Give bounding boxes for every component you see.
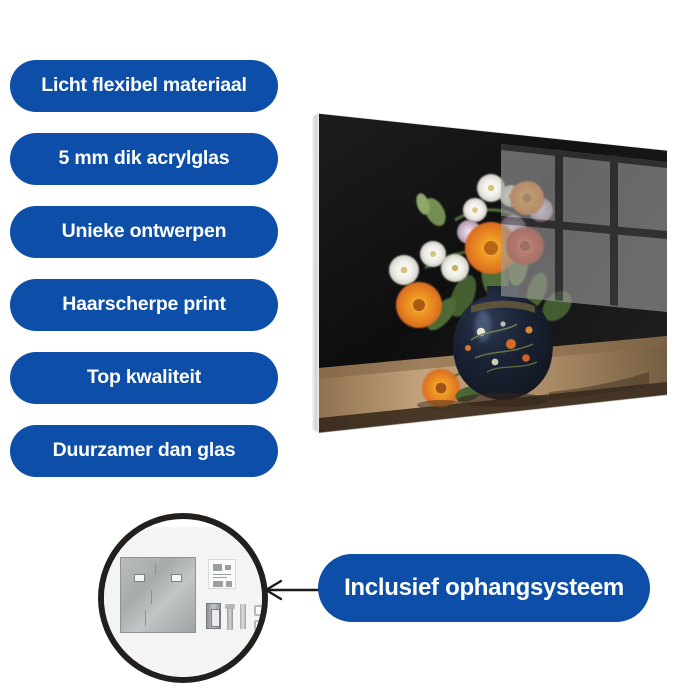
mounting-plate (120, 557, 196, 633)
feature-pill-top-kwaliteit: Top kwaliteit (10, 352, 278, 404)
feature-pill-label: Duurzamer dan glas (53, 441, 236, 461)
feature-pill-label: 5 mm dik acrylglas (59, 149, 230, 169)
feature-pill-haarscherpe-print: Haarscherpe print (10, 279, 278, 331)
bracket (206, 603, 221, 629)
acrylic-panel (305, 100, 680, 450)
keyhole-slot (171, 574, 182, 582)
screw (227, 604, 233, 630)
keyhole-slot (134, 574, 145, 582)
wall-plug (240, 604, 246, 629)
panel-artwork (305, 100, 680, 450)
feature-pill-unieke-ontwerpen: Unieke ontwerpen (10, 206, 278, 258)
acrylic-panel-render (305, 100, 680, 450)
feature-pill-5-mm-dik-acrylglas: 5 mm dik acrylglas (10, 133, 278, 185)
hanging-system-callout-pill: Inclusief ophangsysteem (318, 554, 650, 622)
product-feature-graphic: Licht flexibel materiaal 5 mm dik acrylg… (0, 0, 700, 700)
spacer-pad (254, 620, 267, 631)
feature-pill-label: Unieke ontwerpen (62, 222, 227, 242)
hanging-system-circle (98, 513, 268, 683)
feature-pill-duurzamer-dan-glas: Duurzamer dan glas (10, 425, 278, 477)
hanging-system-kit-photo (98, 527, 268, 677)
feature-pill-label: Haarscherpe print (62, 295, 226, 315)
panel-edge-thickness (312, 113, 319, 433)
feature-pill-licht-flexibel-materiaal: Licht flexibel materiaal (10, 60, 278, 112)
instruction-leaflet (208, 559, 236, 589)
feature-pill-label: Top kwaliteit (87, 368, 201, 388)
glass-sheen (305, 100, 680, 450)
hanging-system-callout-label: Inclusief ophangsysteem (344, 574, 624, 602)
feature-pill-list: Licht flexibel materiaal 5 mm dik acrylg… (10, 60, 278, 498)
feature-pill-label: Licht flexibel materiaal (41, 76, 246, 96)
